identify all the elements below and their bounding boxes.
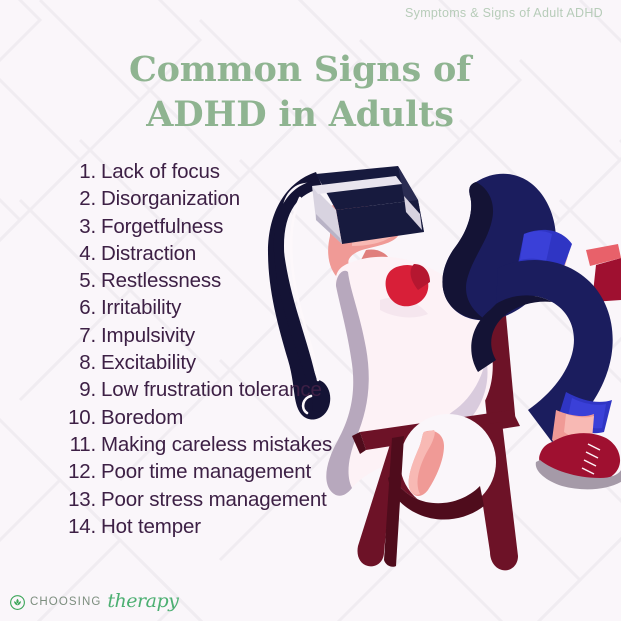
list-item-label: Boredom — [96, 406, 183, 430]
list-item-label: Excitability — [96, 351, 196, 375]
page-title-line-1: Common Signs of — [0, 48, 600, 93]
dangling-hand — [414, 416, 460, 487]
list-item-label: Distraction — [96, 242, 196, 266]
crossed-lower-leg — [471, 260, 612, 442]
list-item: 2. Disorganization — [56, 187, 386, 214]
list-item: 6. Irritability — [56, 296, 386, 323]
shoe-laces — [582, 444, 600, 474]
list-item-label: Forgetfulness — [96, 215, 223, 239]
list-item: 3. Forgetfulness — [56, 215, 386, 242]
raised-leg-upper — [442, 174, 572, 321]
lotus-icon — [10, 595, 25, 610]
list-item: 13. Poor stress management — [56, 488, 386, 515]
list-item-label: Lack of focus — [96, 160, 220, 184]
chair-back-post — [470, 250, 516, 428]
list-item: 5. Restlessness — [56, 269, 386, 296]
list-item-label: Hot temper — [96, 515, 201, 539]
list-item: 8. Excitability — [56, 351, 386, 378]
red-collar-accent — [386, 264, 430, 306]
near-shoe-and-ankle — [536, 410, 621, 489]
top-caption: Symptoms & Signs of Adult ADHD — [405, 6, 603, 20]
list-item-number: 8. — [56, 351, 96, 375]
list-item: 7. Impulsivity — [56, 324, 386, 351]
list-item-number: 12. — [56, 460, 96, 484]
list-item-number: 6. — [56, 296, 96, 320]
list-item-number: 14. — [56, 515, 96, 539]
list-item: 1. Lack of focus — [56, 160, 386, 187]
list-item-label: Poor time management — [96, 460, 311, 484]
bare-foot — [409, 430, 444, 496]
list-item-label: Low frustration tolerance — [96, 378, 322, 402]
list-item-label: Restlessness — [96, 269, 221, 293]
infographic-canvas: Symptoms & Signs of Adult ADHD Common Si… — [0, 0, 621, 621]
list-item-label: Disorganization — [96, 187, 240, 211]
list-item-label: Irritability — [96, 296, 181, 320]
list-item: 10. Boredom — [56, 406, 386, 433]
choosing-therapy-logo[interactable]: CHOOSING therapy — [10, 591, 178, 613]
far-shoe — [586, 244, 621, 302]
list-item-number: 5. — [56, 269, 96, 293]
list-item-number: 7. — [56, 324, 96, 348]
list-item-number: 13. — [56, 488, 96, 512]
list-item: 14. Hot temper — [56, 515, 386, 542]
far-arm — [470, 250, 568, 284]
list-item-number: 3. — [56, 215, 96, 239]
list-item: 11. Making careless mistakes — [56, 433, 386, 460]
list-item: 12. Poor time management — [56, 460, 386, 487]
logo-word-therapy: therapy — [107, 590, 178, 612]
page-title: Common Signs of ADHD in Adults — [0, 48, 600, 138]
list-item-number: 4. — [56, 242, 96, 266]
page-title-line-2: ADHD in Adults — [0, 93, 600, 138]
list-item-number: 11. — [56, 433, 96, 457]
logo-word-choosing: CHOOSING — [30, 596, 101, 608]
list-item-number: 9. — [56, 378, 96, 402]
list-item: 9. Low frustration tolerance — [56, 378, 386, 405]
list-item: 4. Distraction — [56, 242, 386, 269]
symptom-list: 1. Lack of focus 2. Disorganization 3. F… — [56, 160, 386, 542]
list-item-label: Impulsivity — [96, 324, 195, 348]
list-item-label: Poor stress management — [96, 488, 327, 512]
list-item-label: Making careless mistakes — [96, 433, 332, 457]
list-item-number: 10. — [56, 406, 96, 430]
list-item-number: 1. — [56, 160, 96, 184]
list-item-number: 2. — [56, 187, 96, 211]
